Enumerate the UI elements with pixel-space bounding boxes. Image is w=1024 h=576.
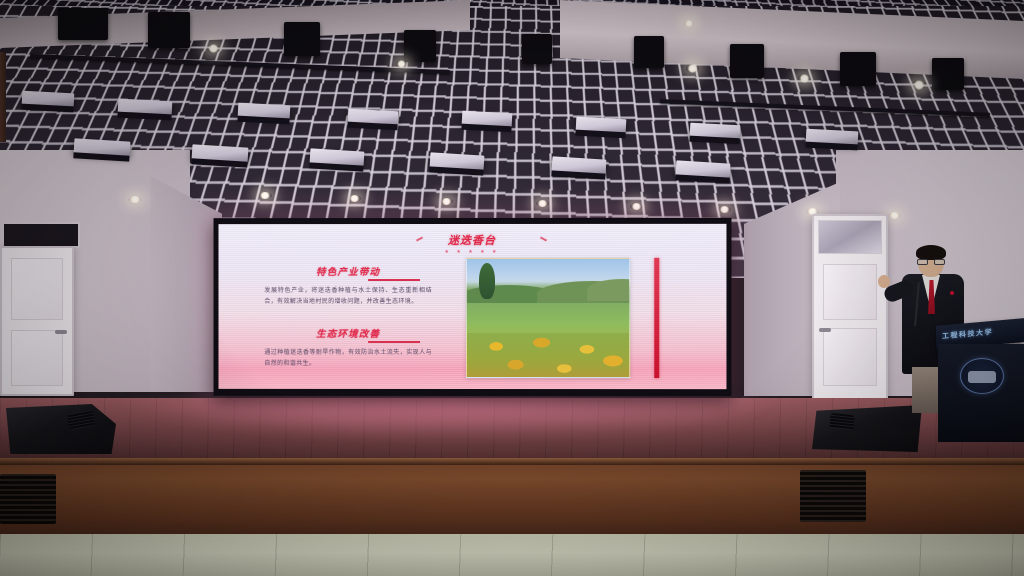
led-panel-light [310, 148, 365, 166]
recessed-downlight [630, 203, 643, 210]
stage-monitor-speaker-left [6, 404, 116, 454]
led-panel-light [430, 152, 485, 170]
speaker-grill [829, 413, 854, 430]
led-panel-light [676, 160, 731, 178]
stage-light [522, 34, 552, 64]
recessed-downlight [718, 206, 731, 213]
photo-yellow-flowers [467, 333, 629, 378]
door-transom-left [2, 222, 80, 248]
led-panel-light [690, 123, 741, 140]
stage-light [58, 8, 108, 40]
led-panel-light [118, 99, 173, 116]
lectern-column [0, 52, 6, 142]
stage-light [634, 36, 664, 68]
led-panel-light [806, 129, 859, 146]
audience-tiled-floor [0, 534, 1024, 576]
auditorium-scene: 迷迭香台 ★ ★ ★ ★ ★ 特色产业带动 发展特色产业，将迷迭香种植与水土保持… [0, 0, 1024, 576]
door-panel-lower [823, 328, 877, 386]
stage-apron-front [0, 462, 1024, 540]
spot-lamp [798, 74, 811, 83]
floor-vent-grille [800, 470, 866, 522]
section-body: 发展特色产业，将迷迭香种植与水土保持、生态重新相结合，有效解决当地村民的增收问题… [258, 286, 438, 308]
presenter-hair [916, 245, 946, 260]
stage-light [284, 22, 320, 56]
side-door-left[interactable] [0, 246, 74, 396]
led-video-wall[interactable]: 迷迭香台 ★ ★ ★ ★ ★ 特色产业带动 发展特色产业，将迷迭香种植与水土保持… [214, 218, 732, 396]
recessed-downlight [888, 212, 901, 219]
led-panel-light [348, 109, 399, 126]
stage-light [932, 58, 964, 90]
stage-light [404, 30, 436, 62]
lectern[interactable]: 工程科技大学 [936, 322, 1024, 442]
recessed-downlight [128, 196, 142, 203]
led-panel-light [192, 144, 249, 162]
door-transom-right [818, 220, 882, 254]
presentation-slide[interactable]: 迷迭香台 ★ ★ ★ ★ ★ 特色产业带动 发展特色产业，将迷迭香种植与水土保持… [218, 224, 726, 389]
spot-lamp [207, 44, 220, 53]
stage-light [730, 44, 764, 78]
section-heading: 特色产业带动 [258, 264, 438, 278]
led-panel-light [462, 111, 513, 128]
slide-title-block: 迷迭香台 ★ ★ ★ ★ ★ [445, 232, 500, 255]
slide-photo-rural-field [466, 258, 630, 378]
stage-edge [0, 458, 1024, 465]
led-panel-light [576, 117, 627, 134]
university-seal-emblem [960, 358, 1004, 394]
title-ornament-right-icon [540, 236, 547, 241]
led-panel-light [552, 156, 607, 174]
slide-section-2: 生态环境改善 通过种植迷迭香等耐旱作物，有效防治水土流失，实现人与自然的和谐共生… [258, 326, 438, 370]
spot-lamp [396, 60, 407, 68]
floor-vent-grille [0, 474, 56, 524]
title-ornament-left-icon [416, 237, 423, 242]
section-body: 通过种植迷迭香等耐旱作物，有效防治水土流失，实现人与自然的和谐共生。 [258, 348, 438, 370]
spot-lamp [684, 20, 694, 27]
led-panel-light [238, 103, 291, 120]
emblem-inner-band [968, 371, 996, 383]
recessed-downlight [348, 195, 361, 202]
lapel-pin-icon [950, 291, 954, 295]
title-stars-icon: ★ ★ ★ ★ ★ [445, 249, 500, 255]
door-panel-upper [11, 258, 63, 320]
led-panel-light [74, 138, 131, 156]
slide-section-1: 特色产业带动 发展特色产业，将迷迭香种植与水土保持、生态重新相结合，有效解决当地… [258, 264, 438, 308]
section-underline [368, 279, 420, 281]
door-panel-lower [11, 330, 63, 386]
slide-accent-bar [654, 258, 659, 378]
recessed-downlight [440, 198, 453, 205]
slide-title: 迷迭香台 [445, 232, 500, 248]
spot-lamp [686, 64, 699, 73]
photo-tree [479, 263, 495, 299]
stage-light [840, 52, 876, 86]
stage-light-glow [120, 398, 780, 440]
side-door-right[interactable] [812, 214, 888, 400]
presenter-hand [878, 275, 890, 288]
photo-hill [587, 279, 630, 301]
led-panel-light [22, 91, 75, 108]
spot-lamp [912, 80, 926, 90]
stage-light [148, 12, 190, 48]
section-underline [368, 341, 420, 343]
door-handle-right[interactable] [819, 328, 831, 332]
recessed-downlight [258, 192, 272, 199]
door-panel-upper [823, 264, 877, 320]
speaker-grill [67, 410, 95, 430]
section-heading: 生态环境改善 [258, 326, 438, 340]
stage-monitor-speaker-right [812, 404, 922, 452]
recessed-downlight [536, 200, 549, 207]
door-handle-left[interactable] [55, 330, 67, 334]
glasses-icon [917, 259, 945, 265]
